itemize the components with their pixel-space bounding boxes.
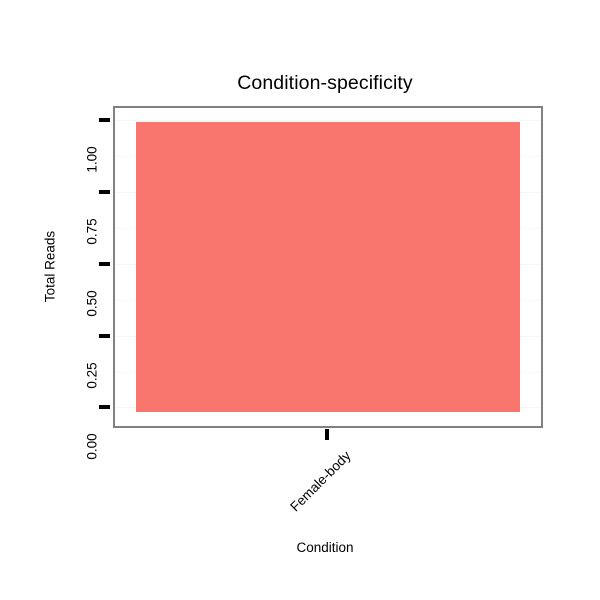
y-tick-mark-0-75: [99, 190, 110, 194]
y-tick-mark-0-25: [99, 334, 110, 338]
y-tick-label-0-75: 0.75: [85, 193, 100, 271]
y-axis-title: Total Reads: [43, 223, 58, 311]
chart-canvas: Condition-specificity 1.00 0.75 0.50 0.2…: [0, 0, 600, 600]
y-tick-mark-0-50: [99, 262, 110, 266]
chart-title: Condition-specificity: [0, 72, 600, 95]
panel-inner: [115, 108, 541, 426]
y-tick-label-1-00: 1.00: [85, 121, 100, 199]
y-tick-label-0-25: 0.25: [85, 337, 100, 415]
gridline-y-1-00: [115, 120, 541, 121]
y-tick-label-0-50: 0.50: [85, 265, 100, 343]
x-tick-mark-female-body: [325, 429, 329, 440]
plot-panel: [113, 106, 543, 428]
x-tick-label-female-body: Female-body: [279, 448, 353, 522]
x-axis-title: Condition: [0, 540, 600, 555]
y-tick-mark-0-00: [99, 405, 110, 409]
y-tick-label-0-00: 0.00: [85, 408, 100, 486]
bar-female-body[interactable]: [136, 122, 519, 411]
y-tick-mark-1-00: [99, 118, 110, 122]
